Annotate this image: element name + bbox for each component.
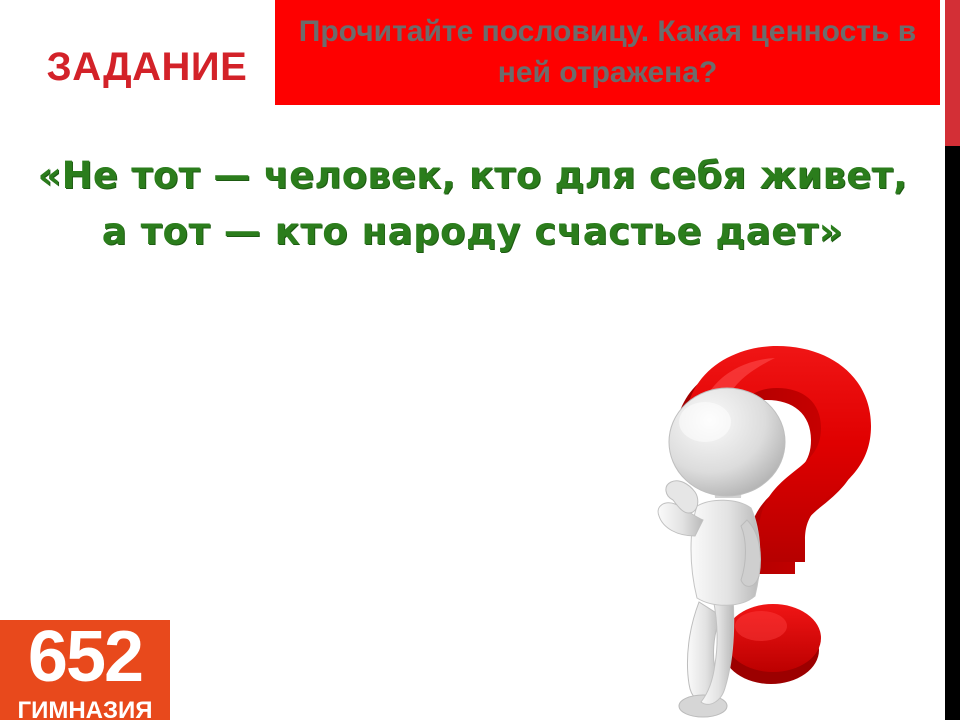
figure-head [669, 388, 785, 496]
right-edge-black-bar [945, 146, 960, 720]
figure-head-highlight [679, 402, 731, 442]
proverb-line-1: «Не тот — человек, кто для себя живет, [0, 148, 945, 204]
question-banner-text: Прочитайте пословицу. Какая ценность в н… [275, 11, 940, 93]
question-banner-line-1: Прочитайте пословицу. Какая [299, 15, 742, 48]
proverb-line-2: а тот — кто народу счастье дает» [0, 204, 945, 260]
question-banner: Прочитайте пословицу. Какая ценность в н… [275, 0, 940, 105]
logo-number: 652 [0, 620, 170, 700]
proverb-text: «Не тот — человек, кто для себя живет, а… [0, 148, 945, 260]
page-title: ЗАДАНИЕ [16, 44, 278, 90]
logo-word: ГИМНАЗИЯ [0, 698, 170, 720]
gymnasium-logo: 652 ГИМНАЗИЯ [0, 620, 170, 720]
right-edge-red-bar [945, 0, 960, 146]
thinking-person-question-mark-illustration [655, 340, 945, 720]
slide-canvas: ЗАДАНИЕ Прочитайте пословицу. Какая ценн… [0, 0, 960, 720]
question-mark-dot-highlight [735, 611, 787, 641]
